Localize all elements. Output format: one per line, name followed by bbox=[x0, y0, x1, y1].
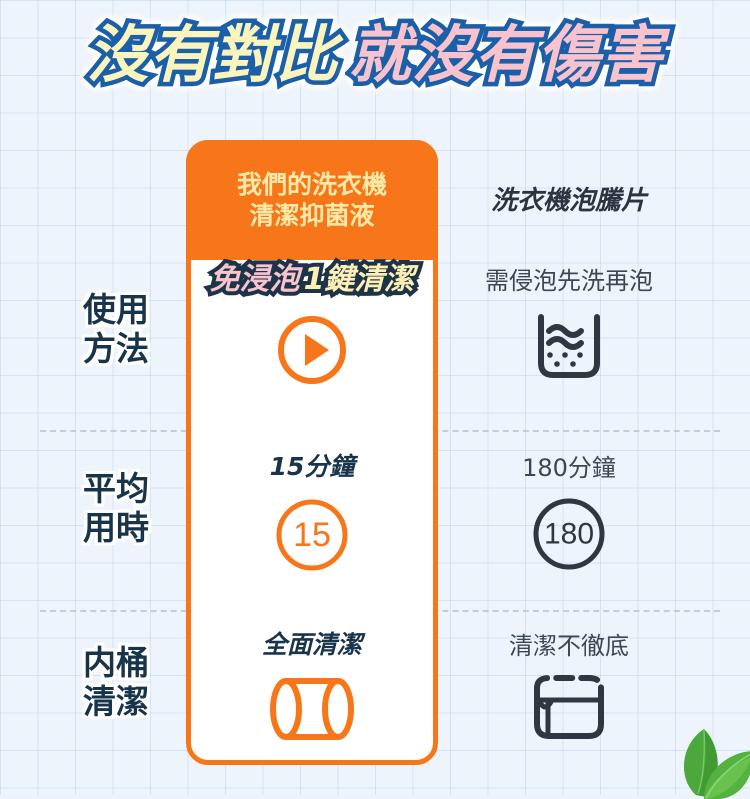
row-label-line2: 用時 bbox=[52, 509, 180, 548]
drum-cylinder-icon bbox=[264, 673, 360, 745]
row-label-usage: 使用 方法 bbox=[52, 291, 180, 369]
row-label-line2: 清潔 bbox=[52, 683, 180, 722]
row-label-line1: 平均 bbox=[52, 470, 180, 509]
number-circle-icon: 180 bbox=[529, 494, 609, 574]
table-row: 使用 方法 免浸泡1鍵清潔 需侵泡先洗再泡 bbox=[0, 255, 750, 430]
play-circle-icon bbox=[275, 313, 349, 387]
cell-highlight-avgtime: 15分鐘 15 bbox=[192, 454, 432, 575]
row-label-drum: 内桶 清潔 bbox=[52, 644, 180, 722]
highlight-avgtime-text: 15分鐘 bbox=[192, 454, 432, 479]
highlight-drum-text: 全面清潔 bbox=[192, 632, 432, 657]
table-row: 内桶 清潔 全面清潔 清潔不徹底 bbox=[0, 612, 750, 777]
number-circle-icon: 15 bbox=[272, 495, 352, 575]
compare-usage-text: 需侵泡先洗再泡 bbox=[444, 269, 694, 293]
row-label-line1: 使用 bbox=[52, 291, 180, 330]
cell-compare-usage: 需侵泡先洗再泡 bbox=[444, 269, 694, 383]
cell-highlight-drum: 全面清潔 bbox=[192, 632, 432, 745]
number-circle-value: 15 bbox=[293, 516, 331, 554]
table-row: 平均 用時 15分鐘 15 180分鐘 180 bbox=[0, 432, 750, 610]
cell-compare-drum: 清潔不徹底 bbox=[444, 634, 694, 746]
usage-badges: 免浸泡1鍵清潔 bbox=[192, 265, 432, 295]
number-circle-value: 180 bbox=[544, 518, 594, 551]
badge-one-key: 1鍵清潔 bbox=[304, 265, 415, 295]
cell-highlight-usage: 免浸泡1鍵清潔 bbox=[192, 265, 432, 387]
soak-basin-icon bbox=[529, 309, 609, 383]
badge-no-soak: 免浸泡 bbox=[210, 265, 300, 295]
cell-compare-avgtime: 180分鐘 180 bbox=[444, 456, 694, 574]
broken-drum-icon bbox=[521, 672, 617, 746]
row-label-line2: 方法 bbox=[52, 330, 180, 369]
row-label-line1: 内桶 bbox=[52, 644, 180, 683]
compare-avgtime-text: 180分鐘 bbox=[444, 456, 694, 480]
compare-drum-text: 清潔不徹底 bbox=[444, 634, 694, 658]
row-label-avgtime: 平均 用時 bbox=[52, 470, 180, 548]
